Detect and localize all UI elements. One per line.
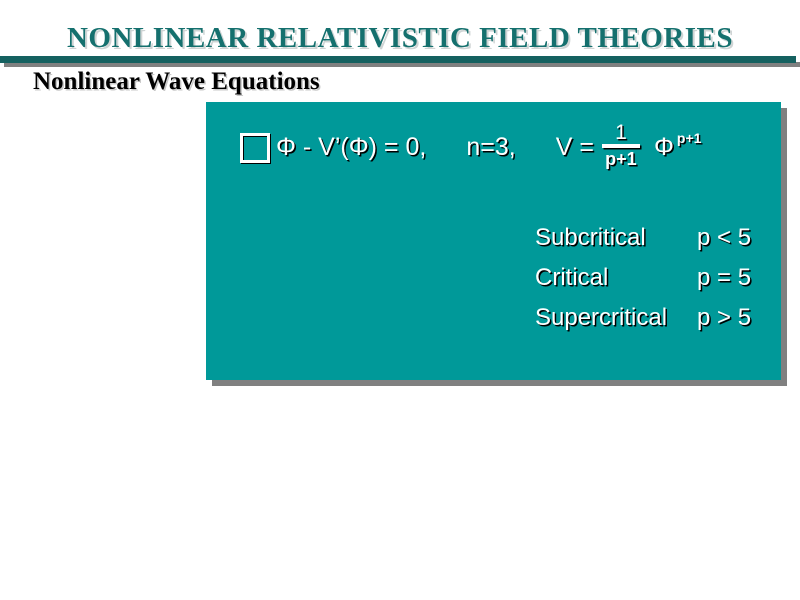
table-row: Supercritical p > 5: [535, 304, 777, 344]
criticality-condition: p < 5: [697, 224, 777, 252]
potential-exponent: p+1: [677, 130, 702, 146]
page-title: NONLINEAR RELATIVISTIC FIELD THEORIES: [0, 22, 800, 55]
fraction-denominator: p+1: [605, 149, 637, 169]
criticality-name: Subcritical: [535, 224, 697, 252]
potential-power-term: Φ p+1: [654, 133, 701, 162]
title-divider-rule: [0, 56, 796, 63]
slide-subtitle: Nonlinear Wave Equations: [33, 68, 320, 96]
potential-field-symbol: Φ: [654, 133, 674, 162]
table-row: Critical p = 5: [535, 264, 777, 304]
dalembertian-box-glyph-icon: [240, 133, 270, 163]
equation-line: Φ - V’(Φ) = 0, n=3, V = 1 p+1 Φ p+1: [240, 124, 701, 170]
table-row: Subcritical p < 5: [535, 224, 777, 264]
potential-fraction: 1 p+1: [602, 123, 640, 169]
criticality-name: Critical: [535, 264, 697, 292]
fraction-bar: [602, 144, 640, 148]
content-panel: Φ - V’(Φ) = 0, n=3, V = 1 p+1 Φ p+1 Subc…: [206, 102, 781, 380]
equation-dimension: n=3,: [466, 133, 515, 162]
slide-canvas: NONLINEAR RELATIVISTIC FIELD THEORIES No…: [0, 0, 800, 600]
fraction-numerator: 1: [615, 123, 627, 143]
criticality-table: Subcritical p < 5 Critical p = 5 Supercr…: [535, 224, 777, 344]
criticality-condition: p > 5: [697, 304, 777, 332]
potential-label: V =: [556, 133, 594, 162]
criticality-name: Supercritical: [535, 304, 697, 332]
equation-lhs: Φ - V’(Φ) = 0,: [276, 133, 426, 162]
criticality-condition: p = 5: [697, 264, 777, 292]
